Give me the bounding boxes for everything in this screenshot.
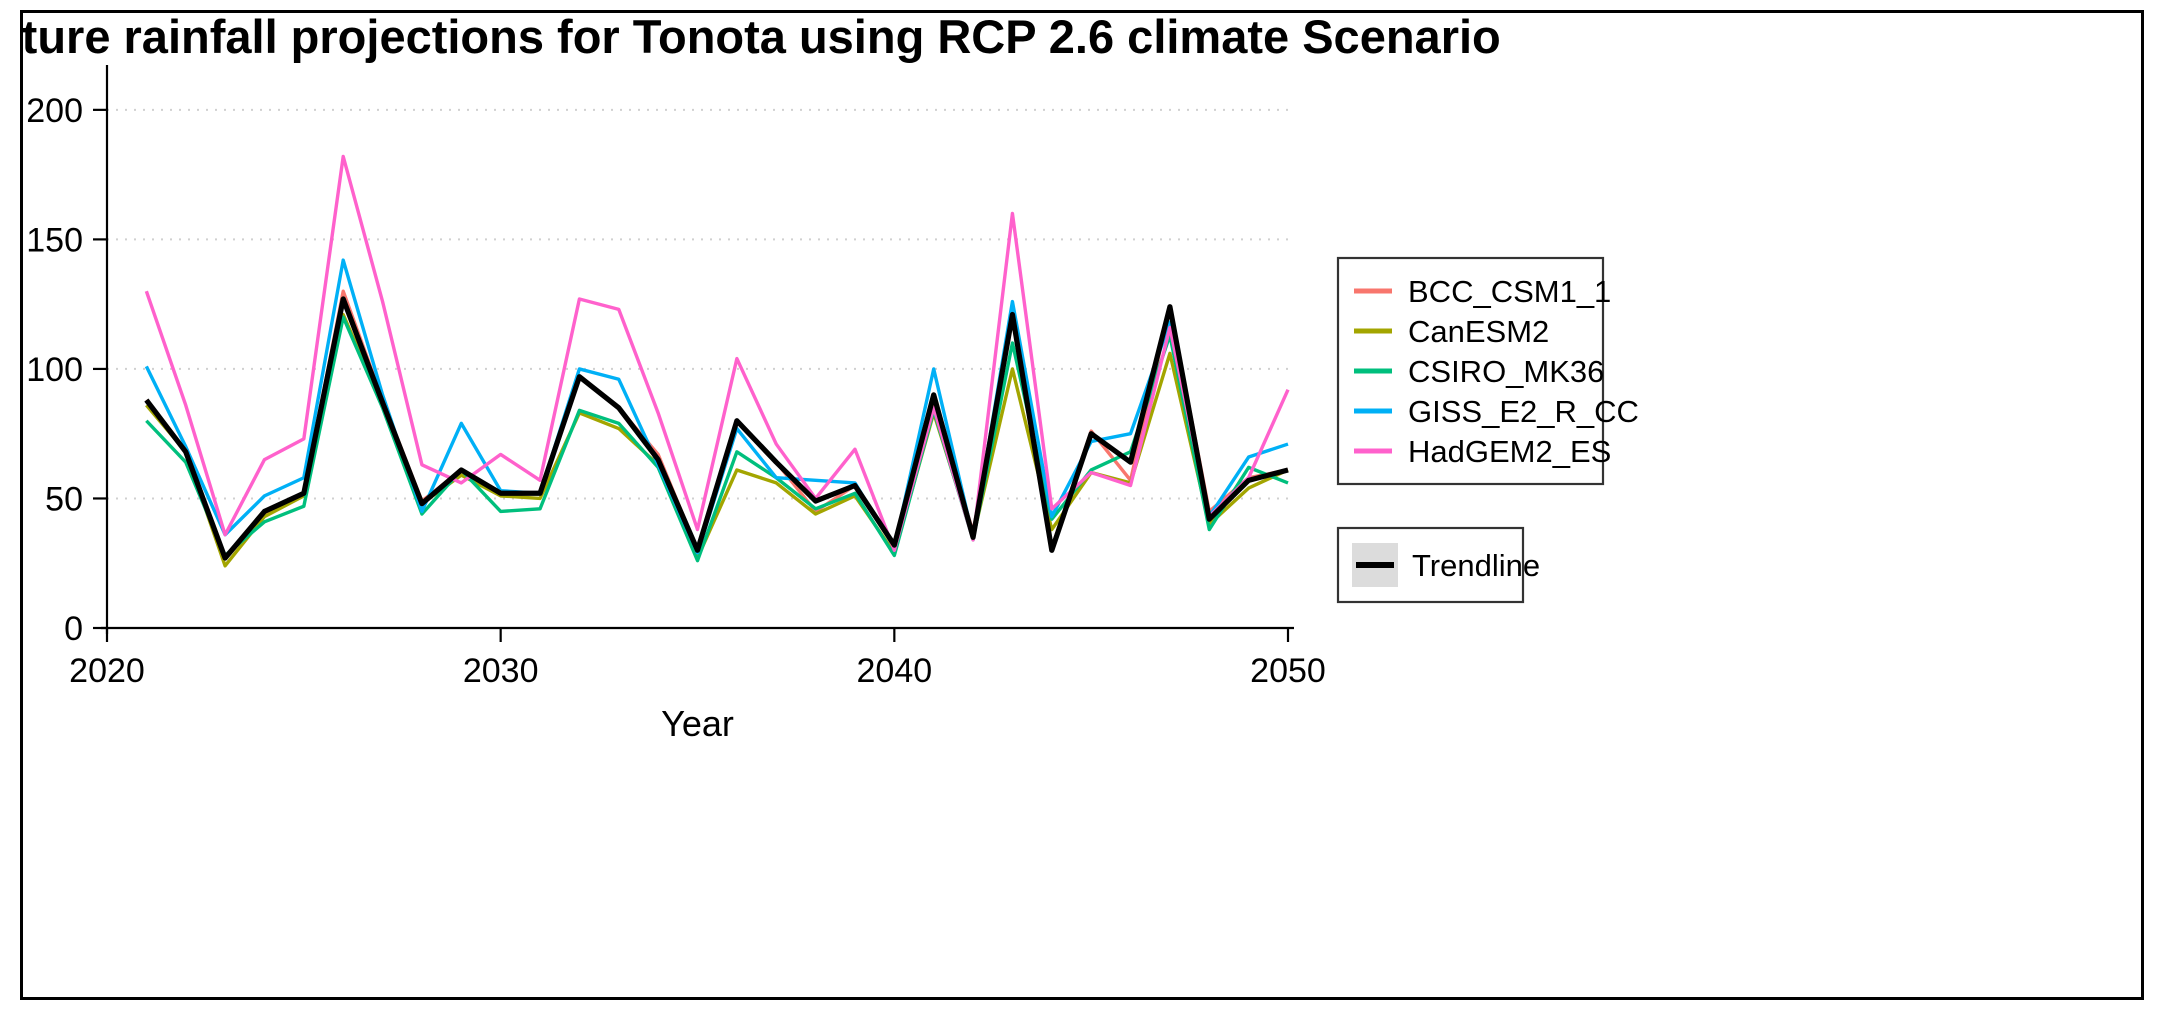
legend-label-canesm2: CanESM2 (1408, 314, 1549, 349)
y-tick-label-0: 0 (64, 610, 83, 648)
y-tick-label-200: 200 (26, 92, 83, 130)
legend-label-giss-e2-r-cc: GISS_E2_R_CC (1408, 394, 1639, 429)
y-tick-label-100: 100 (26, 351, 83, 389)
chart-title: Future rainfall projections for Tonota u… (23, 13, 1501, 63)
figure-frame: 0501001502002020203020402050YearRainfall… (20, 10, 2144, 1000)
rainfall-projection-chart: 0501001502002020203020402050YearRainfall… (23, 13, 2141, 997)
screenshot-root: 0501001502002020203020402050YearRainfall… (0, 0, 2166, 1019)
x-tick-label-2040: 2040 (857, 652, 933, 690)
legend-label-hadgem2-es: HadGEM2_ES (1408, 434, 1611, 469)
x-axis-title: Year (661, 703, 734, 744)
legend-label-csiro-mk36: CSIRO_MK36 (1408, 354, 1604, 389)
y-tick-label-150: 150 (26, 221, 83, 259)
legend-label-trendline: Trendline (1412, 548, 1540, 583)
y-tick-label-50: 50 (45, 480, 83, 518)
legend-label-bcc-csm1-1: BCC_CSM1_1 (1408, 274, 1611, 309)
x-tick-label-2030: 2030 (463, 652, 539, 690)
x-tick-label-2020: 2020 (69, 652, 145, 690)
x-tick-label-2050: 2050 (1250, 652, 1326, 690)
